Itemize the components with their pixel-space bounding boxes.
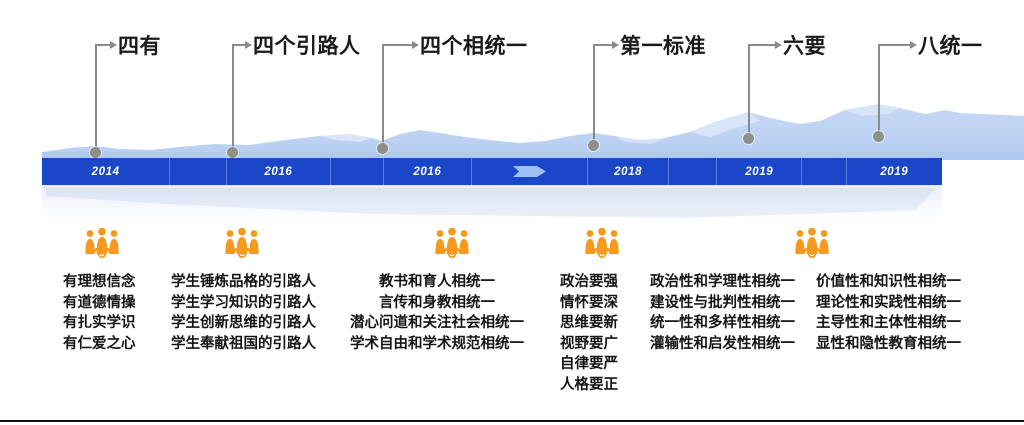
bar-reflection [42,185,942,219]
callout-leader-line [95,44,120,152]
timeline-point-marker[interactable] [377,143,388,154]
timeline-segment-year[interactable]: 2018 [588,158,668,185]
column-line: 显性和隐性教育相统一 [816,334,961,355]
callout-leader-line [748,44,785,138]
leader-stem [748,44,750,138]
people-group-icon [581,228,623,258]
column-line: 学术自由和学术规范相统一 [350,334,524,355]
leader-stem [232,44,234,152]
infographic-canvas: 四有四个引路人四个相统一第一标准六要八统一 201420162016201820… [0,0,1024,425]
column-line: 学生学习知识的引路人 [171,293,316,314]
timeline-year-label: 2018 [614,166,642,178]
leader-stem [593,44,595,145]
column-line: 言传和身教相统一 [350,293,524,314]
callout-leader-line [593,44,622,145]
col-ba-tong-yi-right: 价值性和知识性相统一理论性和实践性相统一主导性和主体性相统一显性和隐性教育相统一 [816,272,961,354]
callout-label: 四个引路人 [253,36,361,57]
col-si-ge-yin-lu-ren: 学生锤炼品格的引路人学生学习知识的引路人学生创新思维的引路人学生奉献祖国的引路人 [171,272,316,354]
leader-arrowhead-icon [612,41,619,49]
leader-arm [232,44,245,46]
timeline-point-marker[interactable] [588,140,599,151]
mountain-area-graphic [0,88,1024,160]
column-line: 学生奉献祖国的引路人 [171,334,316,355]
leader-arrowhead-icon [775,41,782,49]
people-group-icon [791,228,833,258]
column-line: 潜心问道和关注社会相统一 [350,313,524,334]
column-line: 有理想信念 [63,272,136,293]
leader-arm [382,44,412,46]
leader-arrowhead-icon [412,41,419,49]
callout-leader-line [878,44,920,136]
timeline-segment-year[interactable]: 2016 [227,158,331,185]
leader-arm [878,44,910,46]
leader-stem [95,44,97,152]
bottom-divider [0,420,1024,422]
column-line: 思维要新 [560,313,618,334]
column-line: 教书和育人相统一 [350,272,524,293]
column-line: 学生创新思维的引路人 [171,313,316,334]
column-line: 有仁爱之心 [63,334,136,355]
timeline-year-label: 2019 [745,166,773,178]
column-line: 理论性和实践性相统一 [816,293,961,314]
callout-label: 第一标准 [620,36,706,57]
timeline-point-marker[interactable] [227,147,238,158]
leader-arrowhead-icon [910,41,917,49]
column-line: 情怀要深 [560,293,618,314]
timeline-segment-year[interactable]: 2019 [717,158,801,185]
col-liu-yao: 政治要强情怀要深思维要新视野要广自律要严人格要正 [560,272,618,395]
column-line: 人格要正 [560,375,618,396]
timeline-segment-year[interactable]: 2019 [847,158,942,185]
leader-arrowhead-icon [110,41,117,49]
callout-label: 六要 [783,36,826,57]
column-line: 视野要广 [560,334,618,355]
column-line: 灌输性和启发性相统一 [650,334,795,355]
column-line: 学生锤炼品格的引路人 [171,272,316,293]
col-si-ge-xiang-tong-yi: 教书和育人相统一言传和身教相统一潜心问道和关注社会相统一学术自由和学术规范相统一 [350,272,524,354]
column-line: 有道德情操 [63,293,136,314]
column-line: 主导性和主体性相统一 [816,313,961,334]
people-group-icon [81,228,123,258]
callout-label: 四个相统一 [420,36,528,57]
timeline-point-marker[interactable] [743,133,754,144]
callout-leader-line [382,44,422,148]
callout-leader-line [232,44,255,152]
timeline-segment[interactable] [472,158,588,185]
col-ba-tong-yi-left: 政治性和学理性相统一建设性与批判性相统一统一性和多样性相统一灌输性和启发性相统一 [650,272,795,354]
column-line: 建设性与批判性相统一 [650,293,795,314]
people-group-icon [431,228,473,258]
timeline-segment[interactable] [669,158,718,185]
timeline-bar[interactable]: 201420162016201820192019 [42,158,942,185]
leader-arm [593,44,612,46]
column-line: 政治要强 [560,272,618,293]
column-line: 有扎实学识 [63,313,136,334]
leader-arm [748,44,775,46]
leader-arm [95,44,110,46]
leader-stem [878,44,880,136]
leader-arrowhead-icon [245,41,252,49]
chevron-marker-icon [513,165,547,178]
timeline-year-label: 2019 [880,166,908,178]
callout-label: 八统一 [918,36,983,57]
column-line: 政治性和学理性相统一 [650,272,795,293]
column-line: 自律要严 [560,354,618,375]
callout-label: 四有 [118,36,161,57]
timeline-point-marker[interactable] [90,147,101,158]
timeline-point-marker[interactable] [873,131,884,142]
col-si-you: 有理想信念有道德情操有扎实学识有仁爱之心 [63,272,136,354]
timeline-segment[interactable] [170,158,227,185]
people-group-icon [221,228,263,258]
column-line: 价值性和知识性相统一 [816,272,961,293]
timeline-segment[interactable] [802,158,847,185]
timeline-segment-year[interactable]: 2014 [42,158,170,185]
leader-stem [382,44,384,148]
timeline-year-label: 2016 [413,166,441,178]
timeline-year-label: 2016 [264,166,292,178]
column-line: 统一性和多样性相统一 [650,313,795,334]
timeline-year-label: 2014 [92,166,120,178]
timeline-segment-year[interactable]: 2016 [384,158,472,185]
timeline-segment[interactable] [331,158,384,185]
